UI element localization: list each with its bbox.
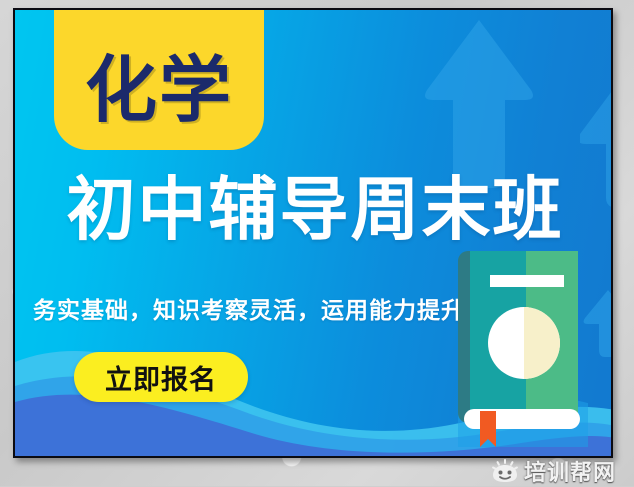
subject-badge-label: 化学 (85, 54, 233, 150)
watermark: 培训帮网 (492, 455, 616, 487)
subject-badge: 化学 (54, 8, 264, 150)
banner-subtitle: 务实基础，知识考察灵活，运用能力提升 (33, 291, 465, 325)
page-title: 初中辅导周末班 (29, 176, 601, 245)
book-illustration (458, 251, 588, 447)
course-promo-banner: 化学 初中辅导周末班 务实基础，知识考察灵活，运用能力提升 立即报名 (13, 8, 613, 458)
page-root: 化学 初中辅导周末班 务实基础，知识考察灵活，运用能力提升 立即报名 (0, 0, 634, 486)
up-arrow-icon (419, 16, 539, 191)
enroll-now-button-label: 立即报名 (105, 358, 217, 397)
enroll-now-button[interactable]: 立即报名 (74, 352, 248, 402)
watermark-text: 培训帮网 (524, 455, 616, 487)
smiley-face-logo-icon (492, 459, 518, 483)
